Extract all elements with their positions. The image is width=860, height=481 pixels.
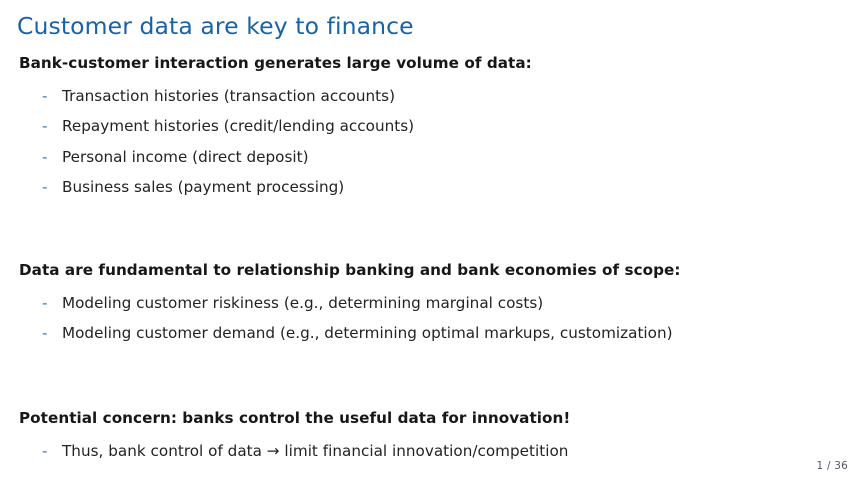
block-spacer xyxy=(0,348,860,407)
content-block-2: Data are fundamental to relationship ban… xyxy=(0,259,860,349)
bullet-list-2: - Modeling customer riskiness (e.g., det… xyxy=(0,288,860,349)
bullet-dash-icon: - xyxy=(42,436,48,466)
slide-body: Bank-customer interaction generates larg… xyxy=(0,52,860,467)
spacer xyxy=(0,74,860,81)
block-heading-3: Potential concern: banks control the use… xyxy=(0,407,860,429)
content-block-1: Bank-customer interaction generates larg… xyxy=(0,52,860,203)
block-heading-1: Bank-customer interaction generates larg… xyxy=(0,52,860,74)
spacer xyxy=(0,429,860,436)
list-item: - Thus, bank control of data → limit fin… xyxy=(0,436,860,466)
list-item-label: Repayment histories (credit/lending acco… xyxy=(62,117,414,135)
bullet-dash-icon: - xyxy=(42,318,48,348)
list-item-label: Personal income (direct deposit) xyxy=(62,148,309,166)
presentation-slide: Customer data are key to finance Bank-cu… xyxy=(0,0,860,481)
list-item: - Repayment histories (credit/lending ac… xyxy=(0,111,860,141)
list-item-label: Thus, bank control of data → limit finan… xyxy=(62,442,568,460)
bullet-dash-icon: - xyxy=(42,142,48,172)
bullet-dash-icon: - xyxy=(42,111,48,141)
bullet-list-3: - Thus, bank control of data → limit fin… xyxy=(0,436,860,466)
list-item: - Modeling customer riskiness (e.g., det… xyxy=(0,288,860,318)
bullet-dash-icon: - xyxy=(42,81,48,111)
list-item-label: Business sales (payment processing) xyxy=(62,178,344,196)
list-item: - Modeling customer demand (e.g., determ… xyxy=(0,318,860,348)
bullet-list-1: - Transaction histories (transaction acc… xyxy=(0,81,860,203)
list-item-label: Modeling customer demand (e.g., determin… xyxy=(62,324,673,342)
block-spacer xyxy=(0,203,860,259)
content-block-3: Potential concern: banks control the use… xyxy=(0,407,860,466)
list-item-label: Modeling customer riskiness (e.g., deter… xyxy=(62,294,543,312)
slide-title: Customer data are key to finance xyxy=(17,11,414,41)
list-item: - Transaction histories (transaction acc… xyxy=(0,81,860,111)
list-item: - Personal income (direct deposit) xyxy=(0,142,860,172)
page-number: 1 / 36 xyxy=(817,459,848,473)
bullet-dash-icon: - xyxy=(42,172,48,202)
block-heading-2: Data are fundamental to relationship ban… xyxy=(0,259,860,281)
list-item-label: Transaction histories (transaction accou… xyxy=(62,87,395,105)
spacer xyxy=(0,281,860,288)
bullet-dash-icon: - xyxy=(42,288,48,318)
list-item: - Business sales (payment processing) xyxy=(0,172,860,202)
